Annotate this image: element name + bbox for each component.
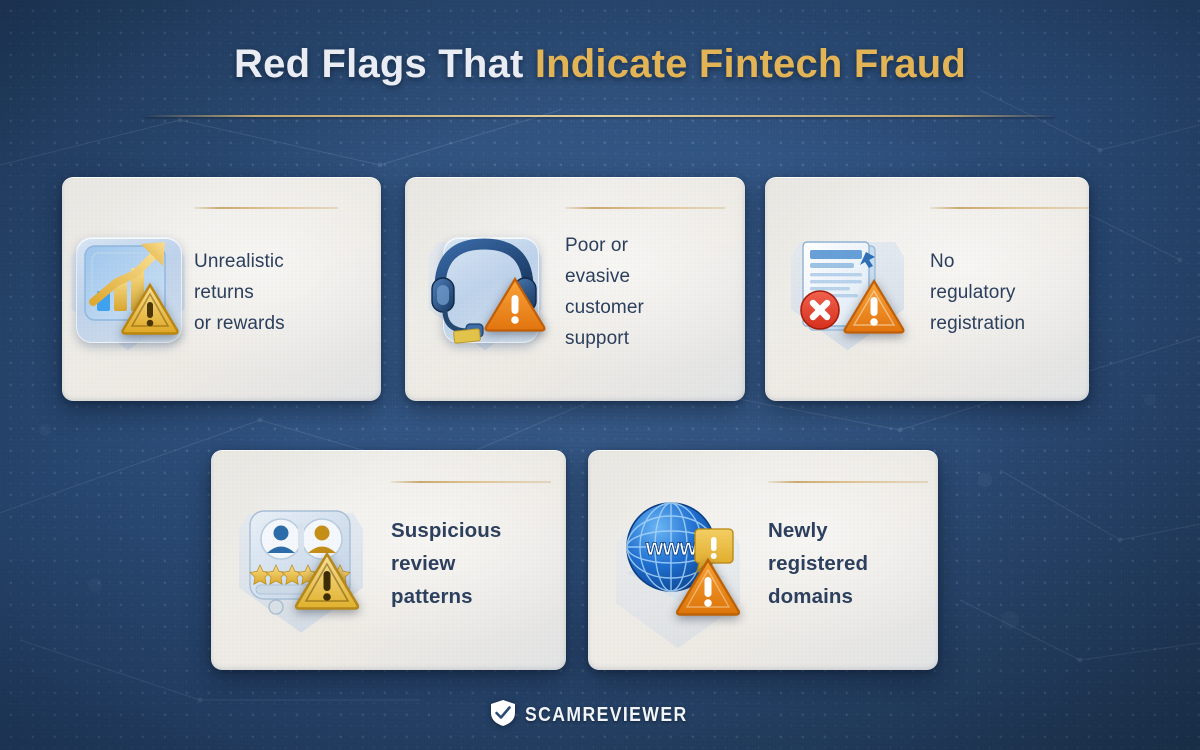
document-rejected-warning-icon	[789, 230, 907, 348]
card-divider-2	[930, 207, 1089, 209]
card-divider-3	[391, 481, 551, 483]
headset-warning-icon	[426, 230, 544, 348]
card-label-new-domains: Newly registered domains	[768, 514, 926, 613]
warning-triangle-icon	[294, 551, 360, 611]
user-reviews-stars-warning-icon	[236, 495, 366, 625]
header: Red Flags That Indicate Fintech Fraud	[0, 0, 1200, 140]
card-icon-wrap-3	[211, 450, 391, 670]
card-divider-0	[194, 207, 338, 209]
shield-check-icon	[490, 699, 516, 732]
card-label-poor-support: Poor or evasive customer support	[565, 230, 733, 354]
www-globe-warning-icon: www	[613, 495, 743, 625]
warning-triangle-icon	[843, 278, 905, 335]
card-icon-wrap-1	[405, 177, 565, 401]
card-icon-wrap-0	[62, 177, 194, 401]
card-body-0: Unrealistic returns or rewards	[194, 177, 381, 401]
card-unrealistic-returns[interactable]: Unrealistic returns or rewards	[62, 177, 381, 401]
card-label-unrealistic-returns: Unrealistic returns or rewards	[194, 246, 369, 339]
growth-chart-warning-icon	[69, 230, 187, 348]
warning-triangle-icon	[484, 276, 546, 333]
card-body-2: No regulatory registration	[930, 177, 1089, 401]
brand-name: SCAMREVIEWER	[525, 704, 688, 727]
card-poor-support[interactable]: Poor or evasive customer support	[405, 177, 745, 401]
card-suspicious-reviews[interactable]: Suspicious review patterns	[211, 450, 566, 670]
page-title-part-2: Indicate Fintech Fraud	[535, 42, 966, 86]
card-icon-wrap-4: www	[588, 450, 768, 670]
card-body-4: Newly registered domains	[768, 450, 938, 670]
card-label-suspicious-reviews: Suspicious review patterns	[391, 514, 554, 613]
card-icon-wrap-2	[765, 177, 930, 401]
title-divider	[145, 115, 1055, 117]
card-divider-4	[768, 481, 928, 483]
card-body-1: Poor or evasive customer support	[565, 177, 745, 401]
card-body-3: Suspicious review patterns	[391, 450, 566, 670]
card-label-no-registration: No regulatory registration	[930, 246, 1077, 339]
card-new-domains[interactable]: www Newly registered domains	[588, 450, 938, 670]
footer: SCAMREVIEWER	[0, 699, 1200, 732]
page-title: Red Flags That Indicate Fintech Fraud	[0, 38, 1200, 90]
infographic-canvas: Red Flags That Indicate Fintech Fraud	[0, 0, 1200, 750]
warning-triangle-icon	[675, 557, 741, 617]
card-divider-1	[565, 207, 725, 209]
page-title-part-1: Red Flags That	[234, 42, 535, 86]
warning-triangle-icon	[121, 282, 179, 336]
card-no-registration[interactable]: No regulatory registration	[765, 177, 1089, 401]
